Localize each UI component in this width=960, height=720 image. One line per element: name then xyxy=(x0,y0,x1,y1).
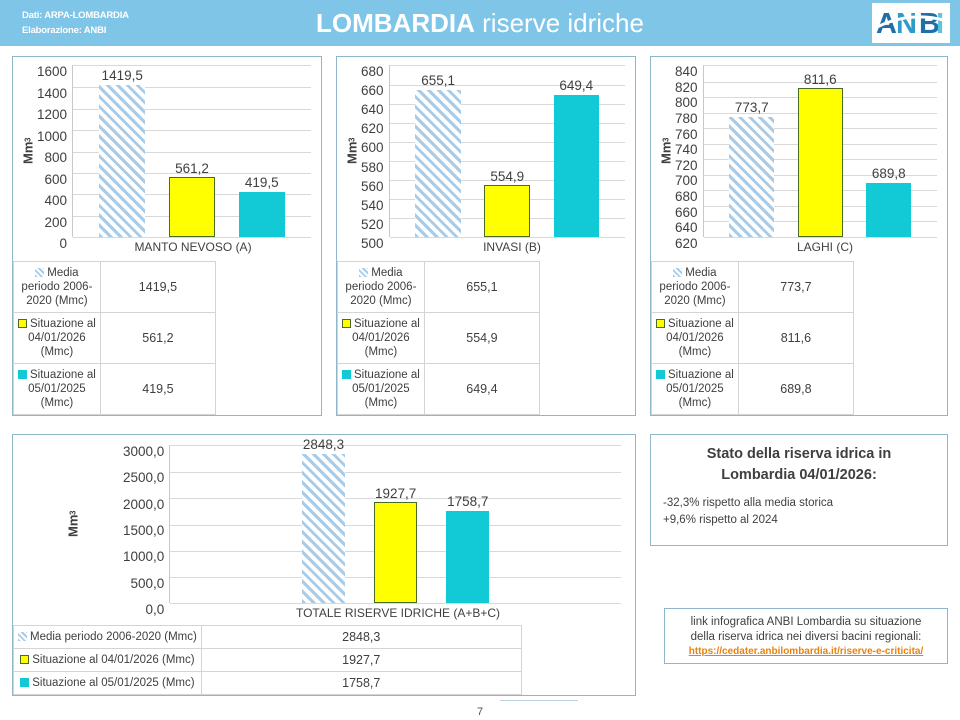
x-axis-label: MANTO NEVOSO (A) xyxy=(75,237,321,254)
x-axis-label: INVASI (B) xyxy=(399,237,635,254)
bar-media: 655,1 xyxy=(415,66,461,237)
plot-area: 2848,3 1927,7 1758,7 xyxy=(169,445,621,603)
legend-value-2026: 1927,7 xyxy=(201,649,521,672)
bar-media-value: 1419,5 xyxy=(102,68,143,83)
legend-2025-text: Situazione al05/01/2025(Mmc) xyxy=(352,369,420,409)
legend-value-2025: 689,8 xyxy=(738,364,853,415)
bar-media: 773,7 xyxy=(729,66,774,237)
link-description-line-1: link infografica ANBI Lombardia su situa… xyxy=(669,615,943,630)
x-axis-label: TOTALE RISERVE IDRICHE (A+B+C) xyxy=(175,603,635,620)
legend-2026-text: Situazione al04/01/2026(Mmc) xyxy=(666,318,734,358)
table-row: Mediaperiodo 2006-2020 (Mmc) 655,1 xyxy=(338,262,540,313)
header-credits: Dati: ARPA-LOMBARDIA Elaborazione: ANBI xyxy=(22,8,129,38)
bar-situazione-2025: 419,5 xyxy=(239,66,285,237)
legend-2025-text: Situazione al05/01/2025(Mmc) xyxy=(28,369,96,409)
table-row: Situazione al04/01/2026(Mmc) 561,2 xyxy=(14,313,216,364)
legend-label-2026: Situazione al 04/01/2026 (Mmc) xyxy=(14,649,202,672)
bar-group: 773,7 811,6 689,8 xyxy=(704,66,937,237)
bar-2026-shape: 554,9 xyxy=(484,185,530,237)
cyan-swatch-icon xyxy=(20,678,29,687)
table-row: Situazione al 05/01/2025 (Mmc) 1758,7 xyxy=(14,672,522,695)
bar-group: 655,1 554,9 649,4 xyxy=(390,66,625,237)
stato-line-media: -32,3% rispetto alla media storica xyxy=(663,495,947,512)
bar-media-value: 2848,3 xyxy=(303,437,344,452)
gridline xyxy=(73,237,311,238)
bar-media-shape: 2848,3 xyxy=(302,454,345,603)
bar-media-value: 773,7 xyxy=(735,100,769,115)
stato-body: -32,3% rispetto alla media storica +9,6%… xyxy=(651,486,947,529)
table-row: Media periodo 2006-2020 (Mmc) 2848,3 xyxy=(14,626,522,649)
table-row: Situazione al05/01/2025(Mmc) 419,5 xyxy=(14,364,216,415)
panel-laghi: Mm3 840820800780760740720700680660640620… xyxy=(650,56,948,416)
hatch-swatch-icon xyxy=(673,268,682,277)
bar-situazione-2025: 1758,7 xyxy=(446,446,489,603)
chart-laghi: Mm3 840820800780760740720700680660640620… xyxy=(651,57,947,237)
panel-link-infografica[interactable]: link infografica ANBI Lombardia su situa… xyxy=(664,608,948,664)
title-bold: LOMBARDIA xyxy=(316,8,475,38)
legend-value-media: 2848,3 xyxy=(201,626,521,649)
plot-area: 773,7 811,6 689,8 xyxy=(703,65,937,237)
legend-label-media: Media periodo 2006-2020 (Mmc) xyxy=(14,626,202,649)
gridline xyxy=(704,237,937,238)
bar-2026-shape: 561,2 xyxy=(169,177,215,237)
title-light: riserve idriche xyxy=(482,8,644,38)
y-axis-ticks: 16001400120010008006004002000 xyxy=(37,65,72,237)
bar-situazione-2025: 689,8 xyxy=(866,66,911,237)
bar-2025-value: 1758,7 xyxy=(447,494,488,509)
bar-media-shape: 655,1 xyxy=(415,90,461,237)
cyan-swatch-icon xyxy=(18,370,27,379)
y-axis-title: Mm3 xyxy=(343,65,361,237)
bar-group: 1419,5 561,2 419,5 xyxy=(73,66,311,237)
bar-media-value: 655,1 xyxy=(421,73,455,88)
credits-line-2: Elaborazione: ANBI xyxy=(22,23,129,38)
bar-2025-shape: 649,4 xyxy=(554,95,600,237)
plot-area: 655,1 554,9 649,4 xyxy=(389,65,625,237)
legend-2026-text: Situazione al04/01/2026(Mmc) xyxy=(28,318,96,358)
cyan-swatch-icon xyxy=(342,370,351,379)
legend-value-media: 1419,5 xyxy=(100,262,215,313)
page-title: LOMBARDIA riserve idriche xyxy=(0,0,960,46)
legend-media-text: Mediaperiodo 2006-2020 (Mmc) xyxy=(21,267,92,307)
legend-2025-text: Situazione al05/01/2025(Mmc) xyxy=(666,369,734,409)
bar-media: 1419,5 xyxy=(99,66,145,237)
link-description-line-2: della riserva idrica nei diversi bacini … xyxy=(669,630,943,645)
bar-2025-value: 419,5 xyxy=(245,175,279,190)
panel-totale-riserve: Mm3 3000,02500,02000,01500,01000,0500,00… xyxy=(12,434,636,696)
legend-label-2025: Situazione al 05/01/2025 (Mmc) xyxy=(14,672,202,695)
bar-media-shape: 773,7 xyxy=(729,117,774,237)
stato-title: Stato della riserva idrica in Lombardia … xyxy=(651,435,947,486)
legend-label-2026: Situazione al04/01/2026(Mmc) xyxy=(14,313,101,364)
yellow-swatch-icon xyxy=(18,319,27,328)
legend-value-media: 655,1 xyxy=(424,262,539,313)
legend-value-2026: 554,9 xyxy=(424,313,539,364)
table-row: Mediaperiodo 2006-2020 (Mmc) 773,7 xyxy=(652,262,854,313)
hatch-swatch-icon xyxy=(35,268,44,277)
bar-2026-shape: 1927,7 xyxy=(374,502,417,603)
panel-invasi: Mm3 680660640620600580560540520500 655,1… xyxy=(336,56,636,416)
infografica-link[interactable]: https://cedater.anbilombardia.it/riserve… xyxy=(665,646,947,657)
svg-text:I: I xyxy=(936,8,944,40)
yellow-swatch-icon xyxy=(342,319,351,328)
cyan-swatch-icon xyxy=(656,370,665,379)
credits-line-1: Dati: ARPA-LOMBARDIA xyxy=(22,8,129,23)
legend-label-2026: Situazione al04/01/2026(Mmc) xyxy=(338,313,425,364)
bar-2025-value: 649,4 xyxy=(559,78,593,93)
chart-totale: Mm3 3000,02500,02000,01500,01000,0500,00… xyxy=(13,435,635,603)
legend-media-text: Mediaperiodo 2006-2020 (Mmc) xyxy=(659,267,730,307)
svg-text:N: N xyxy=(896,8,917,40)
x-axis-row: TOTALE RISERVE IDRICHE (A+B+C) xyxy=(13,603,635,620)
bar-2026-value: 554,9 xyxy=(490,169,524,184)
legend-2026-text: Situazione al04/01/2026(Mmc) xyxy=(352,318,420,358)
page-number: 7 xyxy=(0,706,960,718)
legend-2025-text: Situazione al 05/01/2025 (Mmc) xyxy=(32,677,194,689)
x-axis-label: LAGHI (C) xyxy=(713,237,947,254)
bar-2025-shape: 689,8 xyxy=(866,183,911,237)
stato-line-anno: +9,6% rispetto al 2024 xyxy=(663,512,947,529)
stato-title-line-2: Lombardia 04/01/2026: xyxy=(663,465,935,486)
chart-manto-nevoso: Mm3 16001400120010008006004002000 1419,5… xyxy=(13,57,321,237)
link-description: link infografica ANBI Lombardia su situa… xyxy=(665,609,947,645)
bar-2026-value: 811,6 xyxy=(804,72,837,87)
hatch-swatch-icon xyxy=(18,632,27,641)
bar-situazione-2026: 554,9 xyxy=(484,66,530,237)
legend-value-2025: 419,5 xyxy=(100,364,215,415)
page-header: Dati: ARPA-LOMBARDIA Elaborazione: ANBI … xyxy=(0,0,960,46)
yellow-swatch-icon xyxy=(20,655,29,664)
legend-table-manto: Mediaperiodo 2006-2020 (Mmc) 1419,5 Situ… xyxy=(13,261,216,415)
legend-label-media: Mediaperiodo 2006-2020 (Mmc) xyxy=(14,262,101,313)
hatch-swatch-icon xyxy=(359,268,368,277)
plot-area: 1419,5 561,2 419,5 xyxy=(72,65,311,237)
table-row: Situazione al04/01/2026(Mmc) 811,6 xyxy=(652,313,854,364)
bar-media-shape: 1419,5 xyxy=(99,85,145,237)
y-axis-title: Mm3 xyxy=(19,65,37,237)
bar-2025-shape: 1758,7 xyxy=(446,511,489,603)
anbi-logo-icon: A N B I xyxy=(874,6,948,40)
legend-label-media: Mediaperiodo 2006-2020 (Mmc) xyxy=(652,262,739,313)
legend-media-text: Media periodo 2006-2020 (Mmc) xyxy=(30,631,197,643)
bar-situazione-2026: 561,2 xyxy=(169,66,215,237)
table-row: Situazione al 04/01/2026 (Mmc) 1927,7 xyxy=(14,649,522,672)
table-row: Situazione al04/01/2026(Mmc) 554,9 xyxy=(338,313,540,364)
gridline xyxy=(390,237,625,238)
stato-title-line-1: Stato della riserva idrica in xyxy=(663,444,935,465)
table-row: Situazione al05/01/2025(Mmc) 689,8 xyxy=(652,364,854,415)
legend-table-laghi: Mediaperiodo 2006-2020 (Mmc) 773,7 Situa… xyxy=(651,261,854,415)
yellow-swatch-icon xyxy=(656,319,665,328)
bar-2025-value: 689,8 xyxy=(872,166,906,181)
legend-label-media: Mediaperiodo 2006-2020 (Mmc) xyxy=(338,262,425,313)
anbi-logo: A N B I xyxy=(872,3,950,43)
legend-value-2026: 811,6 xyxy=(738,313,853,364)
legend-media-text: Mediaperiodo 2006-2020 (Mmc) xyxy=(345,267,416,307)
legend-value-2025: 649,4 xyxy=(424,364,539,415)
legend-value-media: 773,7 xyxy=(738,262,853,313)
legend-label-2025: Situazione al05/01/2025(Mmc) xyxy=(338,364,425,415)
bar-group: 2848,3 1927,7 1758,7 xyxy=(170,446,621,603)
bar-situazione-2026: 811,6 xyxy=(798,66,843,237)
legend-table-invasi: Mediaperiodo 2006-2020 (Mmc) 655,1 Situa… xyxy=(337,261,540,415)
legend-label-2026: Situazione al04/01/2026(Mmc) xyxy=(652,313,739,364)
page-divider xyxy=(500,700,578,701)
y-axis-ticks: 840820800780760740720700680660640620 xyxy=(675,65,703,237)
y-axis-title: Mm3 xyxy=(657,65,675,237)
panel-manto-nevoso: Mm3 16001400120010008006004002000 1419,5… xyxy=(12,56,322,416)
legend-value-2025: 1758,7 xyxy=(201,672,521,695)
bar-2026-shape: 811,6 xyxy=(798,88,843,237)
bar-situazione-2025: 649,4 xyxy=(554,66,600,237)
legend-2026-text: Situazione al 04/01/2026 (Mmc) xyxy=(32,654,194,666)
y-axis-title: Mm3 xyxy=(23,445,123,603)
table-row: Situazione al05/01/2025(Mmc) 649,4 xyxy=(338,364,540,415)
bar-2025-shape: 419,5 xyxy=(239,192,285,237)
bar-2026-value: 1927,7 xyxy=(375,486,416,501)
bar-situazione-2026: 1927,7 xyxy=(374,446,417,603)
legend-label-2025: Situazione al05/01/2025(Mmc) xyxy=(14,364,101,415)
legend-table-totale: Media periodo 2006-2020 (Mmc) 2848,3 Sit… xyxy=(13,625,522,695)
y-axis-ticks: 3000,02500,02000,01500,01000,0500,00,0 xyxy=(123,445,169,603)
legend-value-2026: 561,2 xyxy=(100,313,215,364)
y-axis-ticks: 680660640620600580560540520500 xyxy=(361,65,389,237)
legend-label-2025: Situazione al05/01/2025(Mmc) xyxy=(652,364,739,415)
bar-media: 2848,3 xyxy=(302,446,345,603)
panel-stato-riserva: Stato della riserva idrica in Lombardia … xyxy=(650,434,948,546)
chart-invasi: Mm3 680660640620600580560540520500 655,1… xyxy=(337,57,635,237)
table-row: Mediaperiodo 2006-2020 (Mmc) 1419,5 xyxy=(14,262,216,313)
gridline xyxy=(170,603,621,604)
bar-2026-value: 561,2 xyxy=(175,161,209,176)
